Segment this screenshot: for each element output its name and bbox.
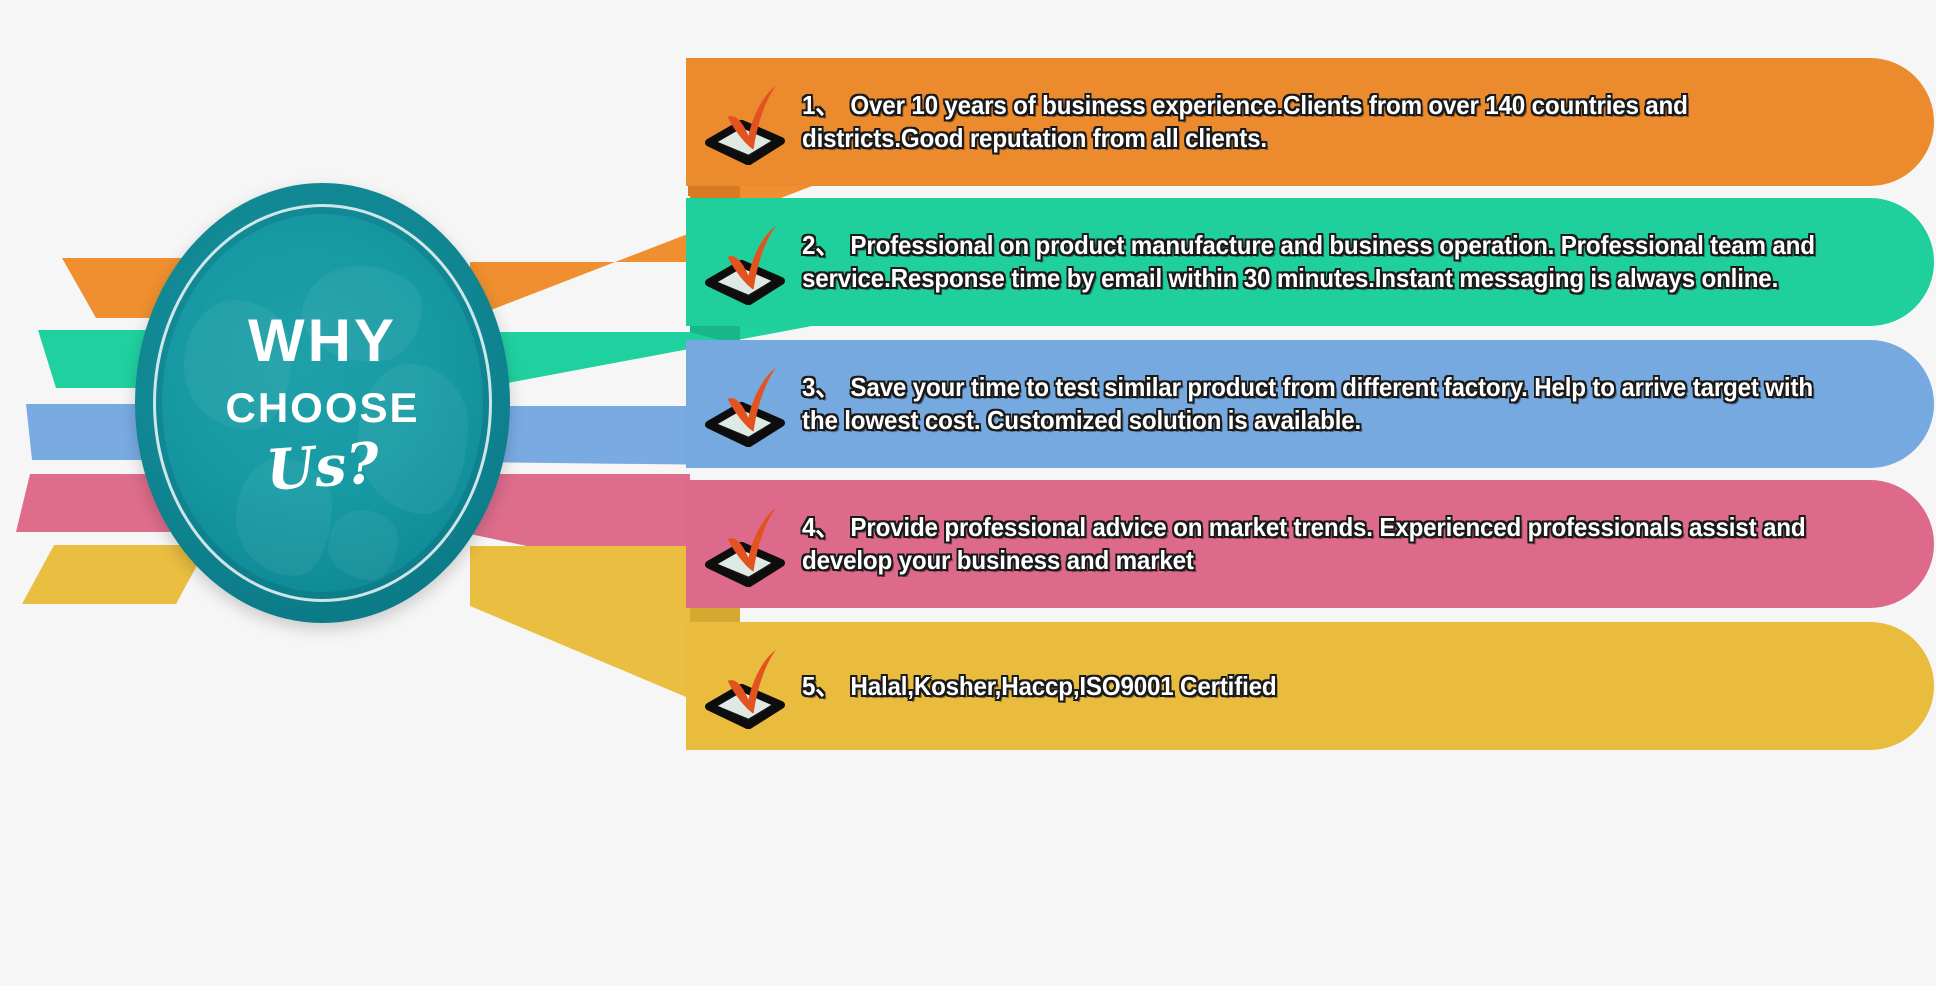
panel-1-text: 1、Over 10 years of business experience.C…	[802, 89, 1823, 155]
panel-3-text: 3、Save your time to test similar product…	[802, 371, 1823, 437]
badge-line-choose: CHOOSE	[225, 387, 419, 429]
panel-5-body: Halal,Kosher,Haccp,ISO9001 Certified	[850, 671, 1276, 701]
benefit-panel-5[interactable]: 5、Halal,Kosher,Haccp,ISO9001 Certified	[686, 622, 1934, 750]
panel-1-number: 1、	[802, 90, 839, 120]
panel-2-text: 2、Professional on product manufacture an…	[802, 229, 1823, 295]
panel-4-number: 4、	[802, 512, 839, 542]
panel-3-number: 3、	[802, 372, 839, 402]
panel-2-body: Professional on product manufacture and …	[802, 230, 1815, 293]
panel-4-text: 4、Provide professional advice on market …	[802, 511, 1823, 577]
benefit-panel-2[interactable]: 2、Professional on product manufacture an…	[686, 198, 1934, 326]
panel-3-body: Save your time to test similar product f…	[802, 372, 1813, 435]
checkbox-check-icon	[702, 79, 788, 165]
panel-4-body: Provide professional advice on market tr…	[802, 512, 1805, 575]
panel-1-body: Over 10 years of business experience.Cli…	[802, 90, 1688, 153]
benefit-panel-1[interactable]: 1、Over 10 years of business experience.C…	[686, 58, 1934, 186]
checkbox-check-icon	[702, 361, 788, 447]
infographic-canvas: 1、Over 10 years of business experience.C…	[0, 0, 1936, 986]
why-choose-us-badge: WHY CHOOSE Us?	[135, 183, 510, 623]
badge-line-why: WHY	[248, 311, 397, 371]
panel-5-text: 5、Halal,Kosher,Haccp,ISO9001 Certified	[802, 670, 1276, 703]
checkbox-check-icon	[702, 501, 788, 587]
benefit-panel-4[interactable]: 4、Provide professional advice on market …	[686, 480, 1934, 608]
badge-line-us: Us?	[264, 435, 381, 499]
panel-5-number: 5、	[802, 671, 839, 701]
benefit-panel-3[interactable]: 3、Save your time to test similar product…	[686, 340, 1934, 468]
checkbox-check-icon	[702, 219, 788, 305]
badge-label-group: WHY CHOOSE Us?	[135, 183, 510, 623]
checkbox-check-icon	[702, 643, 788, 729]
panel-2-number: 2、	[802, 230, 839, 260]
